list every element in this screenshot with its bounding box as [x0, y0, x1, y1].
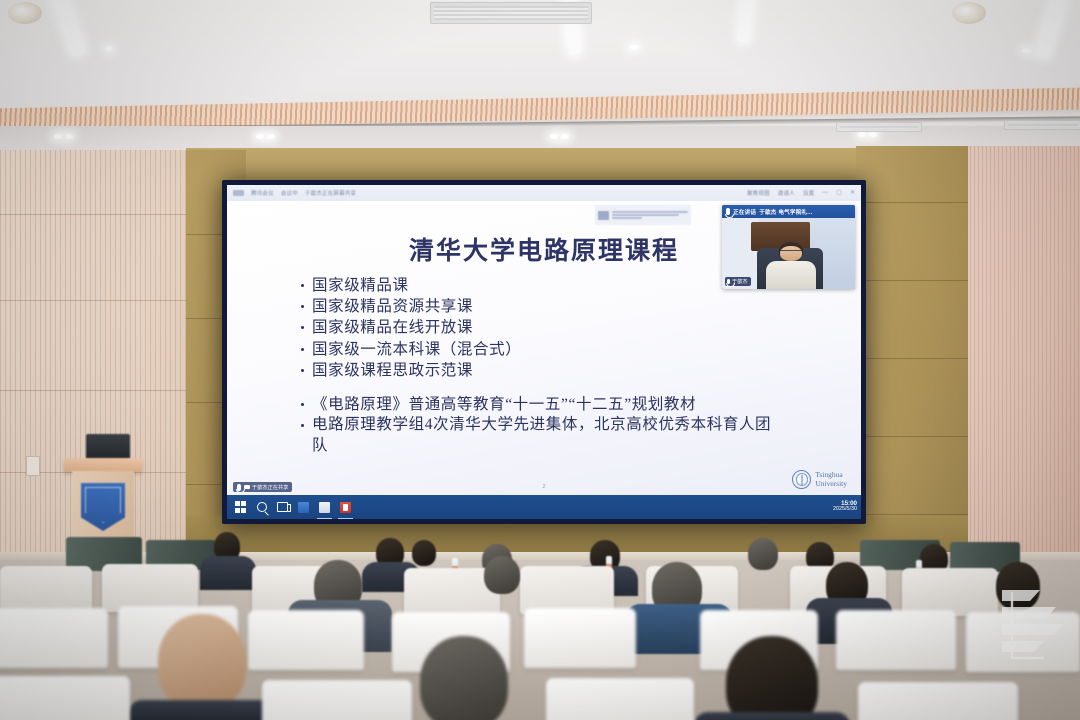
screen-content: 腾讯会议 会议中 于歆杰正在屏幕共享 聚焦视图 邀请人 设置 — ▢ ✕ — [227, 185, 861, 519]
participant-name-badge: 于歆杰 — [725, 277, 751, 286]
bullet-item: 国家级精品资源共享课 — [301, 296, 781, 317]
start-icon[interactable] — [232, 499, 249, 516]
screen-share-status-bar: 于歆杰正在共享 — [233, 482, 292, 492]
participant-video-tile[interactable]: 正在讲话 于歆杰 电气学院礼... 于歆杰 — [722, 205, 855, 289]
clock-date: 2025/5/30 — [833, 507, 857, 513]
microphone-icon — [726, 208, 730, 215]
lecture-hall-photo: 腾讯会议 会议中 于歆杰正在屏幕共享 聚焦视图 邀请人 设置 — ▢ ✕ — [0, 0, 1080, 720]
speaker-name: 于歆杰 电气学院礼... — [759, 208, 812, 216]
close-button[interactable]: ✕ — [850, 189, 855, 196]
windows-taskbar[interactable]: 15:00 2025/5/30 — [227, 495, 861, 519]
maximize-button[interactable]: ▢ — [836, 189, 842, 196]
ceiling-light-strip — [1035, 0, 1067, 59]
bullet-text: 国家级课程思政示范课 — [312, 360, 473, 381]
wall-right-textured — [962, 146, 1080, 576]
ceiling-light-strip — [52, 0, 85, 57]
taskbar-clock[interactable]: 15:00 2025/5/30 — [833, 501, 857, 514]
bullet-dot-icon — [301, 348, 304, 351]
toolbar-invite[interactable]: 邀请人 — [778, 189, 795, 197]
bullet-text: 国家级精品课 — [312, 275, 409, 296]
bullet-item: 国家级精品在线开放课 — [301, 317, 781, 338]
toolbar-focus-view[interactable]: 聚焦视图 — [747, 189, 770, 197]
bullet-item: 电路原理教学组4次清华大学先进集体，北京高校优秀本科育人团队 — [301, 415, 781, 456]
minimize-button[interactable]: — — [822, 190, 828, 196]
video-tile-header: 正在讲话 于歆杰 电气学院礼... — [722, 205, 855, 218]
ceiling-air-grille — [430, 2, 592, 24]
task-view-icon[interactable] — [274, 499, 291, 516]
video-feed: 于歆杰 — [722, 218, 855, 289]
bullet-item: 国家级一流本科课（混合式） — [301, 339, 781, 360]
powerpoint-icon[interactable] — [337, 499, 354, 516]
ml-watermark-logo — [1000, 588, 1066, 662]
slide-page-number: 2 — [542, 484, 545, 490]
bullet-text: 国家级精品在线开放课 — [312, 317, 473, 338]
bullet-dot-icon — [301, 284, 304, 287]
university-crest-icon — [81, 483, 125, 531]
bullet-text: 国家级一流本科课（混合式） — [312, 339, 521, 360]
watermark-logo-icon — [598, 211, 609, 220]
bullet-dot-icon — [301, 369, 304, 372]
slide-watermark — [595, 205, 691, 225]
presentation-slide: 清华大学电路原理课程 国家级精品课 国家级精品资源共享课 国家级精品在线开放课 … — [227, 201, 861, 495]
bullet-text: 国家级精品资源共享课 — [312, 296, 473, 317]
meeting-app-toolbar[interactable]: 腾讯会议 会议中 于歆杰正在屏幕共享 聚焦视图 邀请人 设置 — ▢ ✕ — [227, 185, 861, 201]
bullet-text: 电路原理教学组4次清华大学先进集体，北京高校优秀本科育人团队 — [312, 415, 781, 456]
wall-panel-right — [856, 146, 968, 566]
bullet-dot-icon — [301, 424, 304, 427]
ceiling-light-strip — [737, 0, 753, 42]
toolbar-item-0[interactable]: 腾讯会议 — [251, 189, 274, 197]
bullet-text: 《电路原理》普通高等教育“十一五”“十二五”规划教材 — [312, 394, 696, 415]
tsinghua-university-logo: Tsinghua University — [792, 470, 847, 489]
ceiling — [0, 0, 1080, 152]
logo-line-2: University — [815, 480, 847, 488]
ceiling-dome-light — [952, 2, 986, 24]
speaking-status: 正在讲话 — [733, 208, 756, 216]
projection-screen: 腾讯会议 会议中 于歆杰正在屏幕共享 聚焦视图 邀请人 设置 — ▢ ✕ — [222, 180, 866, 524]
podium-monitor — [86, 434, 130, 460]
toolbar-item-2[interactable]: 于歆杰正在屏幕共享 — [305, 189, 356, 197]
app-blue-icon[interactable] — [295, 499, 312, 516]
toolbar-item-1[interactable]: 会议中 — [281, 189, 298, 197]
bullet-dot-icon — [301, 326, 304, 329]
microphone-icon — [727, 279, 730, 284]
bullet-item: 《电路原理》普通高等教育“十一五”“十二五”规划教材 — [301, 394, 781, 415]
bullet-item: 国家级课程思政示范课 — [301, 360, 781, 381]
bullet-dot-icon — [301, 305, 304, 308]
meeting-app-logo-icon — [233, 190, 244, 196]
bullet-dot-icon — [301, 403, 304, 406]
slide-bullet-list: 国家级精品课 国家级精品资源共享课 国家级精品在线开放课 国家级一流本科课（混合… — [301, 275, 781, 456]
toolbar-settings[interactable]: 设置 — [803, 189, 814, 197]
share-status-label: 于歆杰正在共享 — [252, 484, 288, 491]
app-white-icon[interactable] — [316, 499, 333, 516]
microphone-icon — [237, 484, 241, 491]
tsinghua-seal-icon — [792, 470, 811, 489]
bullet-item: 国家级精品课 — [301, 275, 781, 296]
search-icon[interactable] — [253, 499, 270, 516]
wall-switch-plate — [26, 456, 40, 476]
ceiling-dome-light — [8, 2, 42, 24]
